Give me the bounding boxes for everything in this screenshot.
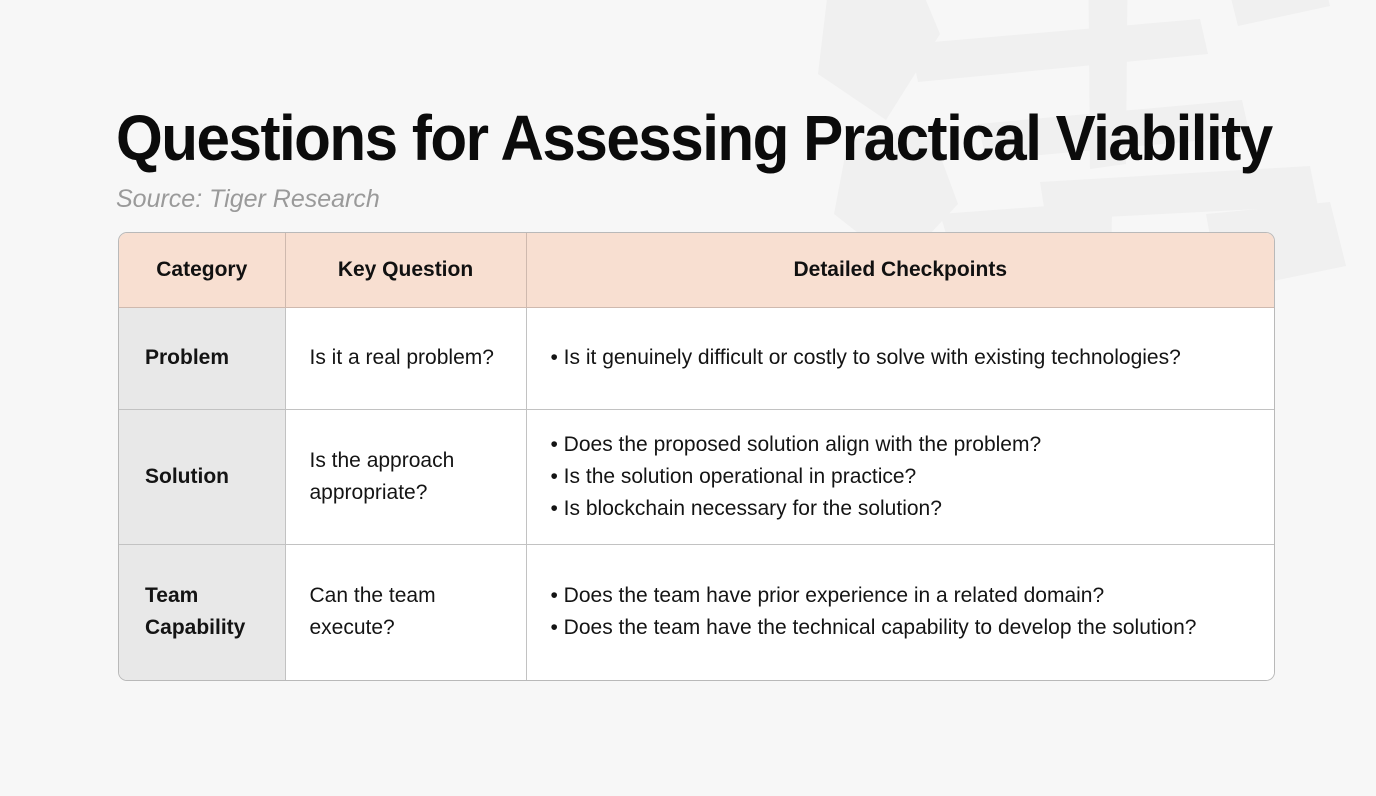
cell-key-question: Is it a real problem? [285,307,526,409]
cell-checkpoints: • Does the team have prior experience in… [526,544,1274,680]
checkpoint-item: • Does the proposed solution align with … [551,429,1251,461]
cell-checkpoints: • Is it genuinely difficult or costly to… [526,307,1274,409]
checkpoint-item: • Is blockchain necessary for the soluti… [551,493,1251,525]
table-row: Solution Is the approach appropriate? • … [119,409,1274,544]
table-row: Team Capability Can the team execute? • … [119,544,1274,680]
cell-category: Problem [119,307,285,409]
cell-key-question: Can the team execute? [285,544,526,680]
source-caption: Source: Tiger Research [116,182,380,216]
checkpoint-item: • Is it genuinely difficult or costly to… [551,342,1251,374]
column-header-category: Category [119,233,285,307]
cell-category: Solution [119,409,285,544]
page-title: Questions for Assessing Practical Viabil… [116,98,1272,178]
checkpoint-item: • Does the team have the technical capab… [551,612,1251,644]
checkpoint-item: • Does the team have prior experience in… [551,580,1251,612]
table-row: Problem Is it a real problem? • Is it ge… [119,307,1274,409]
checkpoint-item: • Is the solution operational in practic… [551,461,1251,493]
cell-checkpoints: • Does the proposed solution align with … [526,409,1274,544]
cell-key-question: Is the approach appropriate? [285,409,526,544]
cell-category: Team Capability [119,544,285,680]
viability-table: Category Key Question Detailed Checkpoin… [118,232,1275,681]
table-header-row: Category Key Question Detailed Checkpoin… [119,233,1274,307]
column-header-detailed-checkpoints: Detailed Checkpoints [526,233,1274,307]
column-header-key-question: Key Question [285,233,526,307]
